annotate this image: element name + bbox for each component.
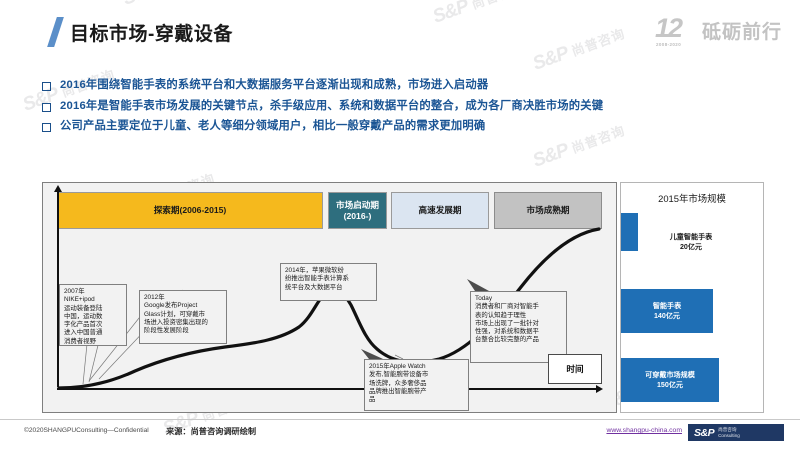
annotation-2012: 2012年 Google发布Project Glass计划，可穿戴市 场进入投资… (139, 290, 227, 344)
x-axis (57, 388, 597, 390)
page-title: 目标市场-穿戴设备 (70, 19, 233, 46)
phase-band-exploration: 探索期(2006-2015) (57, 192, 323, 229)
bar-value: 140亿元 (621, 311, 713, 321)
bar-value: 150亿元 (621, 380, 719, 390)
annotation-2015-apple-watch: 2015年Apple Watch 发布,智能腕带设备市 场洗牌，众多奢侈品 品牌… (364, 359, 469, 411)
phase-band-high-growth: 高速发展期 (391, 192, 489, 229)
market-size-title: 2015年市场规模 (621, 191, 763, 205)
bullet-item: 公司产品主要定位于儿童、老人等细分领域用户，相比一般穿戴产品的需求更加明确 (42, 119, 762, 133)
title-accent-slash-icon (47, 17, 64, 47)
bullet-text: 公司产品主要定位于儿童、老人等细分领域用户，相比一般穿戴产品的需求更加明确 (60, 119, 485, 133)
bar-label-smartwatch: 智能手表 140亿元 (621, 301, 713, 321)
bar-label-children-smartwatch: 儿童智能手表 20亿元 (641, 232, 741, 252)
slide-header: 目标市场-穿戴设备 12 2008-2020 砥砺前行 (0, 0, 800, 62)
bullet-text: 2016年是智能手表市场发展的关键节点，杀手级应用、系统和数据平台的整合，成为各… (60, 99, 603, 113)
footer-confidential: ©2020SHANGPUConsulting—Confidential (24, 427, 149, 434)
annotation-2007: 2007年 NIKE+ipod 运动装备登陆 中国，运动数 字化产品首次 进入中… (59, 284, 127, 346)
bar-name: 儿童智能手表 (641, 232, 741, 242)
bullet-square-icon (42, 82, 51, 91)
anniversary-number: 12 (655, 13, 695, 43)
bullet-square-icon (42, 123, 51, 132)
bullet-square-icon (42, 103, 51, 112)
timeline-chart: 探索期(2006-2015) 市场启动期 (2016-) 高速发展期 市场成熟期… (42, 182, 617, 413)
bullet-item: 2016年围绕智能手表的系统平台和大数据服务平台逐渐出现和成熟，市场进入启动器 (42, 78, 762, 92)
phase-band-market-launch: 市场启动期 (2016-) (328, 192, 387, 229)
bar-name: 智能手表 (621, 301, 713, 311)
anniversary-slogan: 砥砺前行 (702, 17, 782, 44)
slide-footer: ©2020SHANGPUConsulting—Confidential 来源：尚… (0, 419, 800, 449)
bar-name: 可穿戴市场规模 (621, 370, 719, 380)
annotation-2014: 2014年，苹果微软纷 纷推出智能手表计算系 统平台及大数据平台 (280, 263, 377, 301)
company-logo: S&P 尚普咨询 Consulting (688, 424, 784, 441)
bullet-text: 2016年围绕智能手表的系统平台和大数据服务平台逐渐出现和成熟，市场进入启动器 (60, 78, 488, 92)
watermark-sp: S&P (530, 140, 571, 172)
company-logo-initials: S&P (694, 427, 714, 439)
footer-source: 来源：尚普咨询调研绘制 (166, 425, 256, 437)
anniversary-logo: 12 2008-2020 砥砺前行 (655, 12, 782, 48)
x-axis-label: 时间 (548, 354, 602, 384)
slide: S&P 尚普咨询 S&P 尚普咨询 S&P 尚普咨询 S&P 尚普咨询 S&P … (0, 0, 800, 449)
bullet-list: 2016年围绕智能手表的系统平台和大数据服务平台逐渐出现和成熟，市场进入启动器 … (42, 78, 762, 140)
bar-label-wearable-market: 可穿戴市场规模 150亿元 (621, 370, 719, 390)
footer-website-link[interactable]: www.shangpu-china.com (606, 427, 682, 434)
bar-value: 20亿元 (641, 242, 741, 252)
anniversary-mark-icon: 12 2008-2020 (655, 13, 695, 47)
annotation-today: Today 消费者和厂商对智能手 表的认知趋于理性 市场上出现了一批针对 性强，… (470, 291, 567, 363)
anniversary-years: 2008-2020 (656, 42, 681, 47)
company-logo-en: Consulting (718, 433, 740, 438)
phase-band-maturity: 市场成熟期 (494, 192, 602, 229)
bar-children-smartwatch (621, 213, 638, 251)
bullet-item: 2016年是智能手表市场发展的关键节点，杀手级应用、系统和数据平台的整合，成为各… (42, 99, 762, 113)
